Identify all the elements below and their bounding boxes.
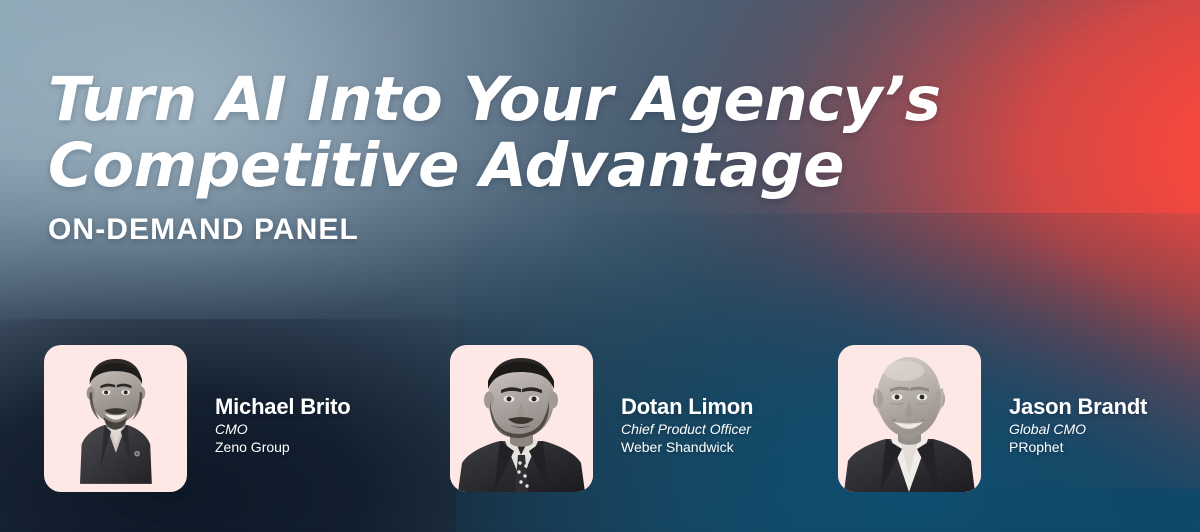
speaker-info: Jason Brandt Global CMO PRophet: [1009, 345, 1147, 456]
speaker-photo-clip: [450, 345, 593, 492]
speaker-card: Dotan Limon Chief Product Officer Weber …: [450, 345, 753, 532]
speaker-org: Zeno Group: [215, 438, 351, 456]
speaker-name: Dotan Limon: [621, 393, 753, 420]
speaker-photo-clip: [44, 345, 187, 492]
webinar-promo-banner: Turn AI Into Your Agency’s Competitive A…: [0, 0, 1200, 532]
speaker-photo-frame: [450, 345, 593, 492]
speaker-photo-jason-brandt: [838, 345, 981, 492]
speaker-card: Michael Brito CMO Zeno Group: [44, 345, 351, 532]
speaker-info: Michael Brito CMO Zeno Group: [215, 345, 351, 456]
speaker-list: Michael Brito CMO Zeno Group: [0, 345, 1200, 532]
speaker-card: Jason Brandt Global CMO PRophet: [838, 345, 1147, 532]
speaker-name: Michael Brito: [215, 393, 351, 420]
speaker-title: Global CMO: [1009, 420, 1147, 438]
speaker-photo-frame: [838, 345, 981, 492]
speaker-title: Chief Product Officer: [621, 420, 753, 438]
speaker-photo-michael-brito: [44, 345, 187, 492]
headline-line-2: Competitive Advantage: [48, 133, 1108, 199]
speaker-name: Jason Brandt: [1009, 393, 1147, 420]
speaker-info: Dotan Limon Chief Product Officer Weber …: [621, 345, 753, 456]
banner-content: Turn AI Into Your Agency’s Competitive A…: [0, 0, 1200, 532]
speaker-photo-clip: [838, 345, 981, 492]
speaker-title: CMO: [215, 420, 351, 438]
speaker-photo-dotan-limon: [450, 345, 593, 492]
speaker-photo-frame: [44, 345, 187, 492]
kicker-label: ON-DEMAND PANEL: [48, 212, 359, 248]
headline-line-1: Turn AI Into Your Agency’s: [48, 67, 1108, 133]
speaker-org: Weber Shandwick: [621, 438, 753, 456]
headline: Turn AI Into Your Agency’s Competitive A…: [48, 67, 1108, 199]
speaker-org: PRophet: [1009, 438, 1147, 456]
